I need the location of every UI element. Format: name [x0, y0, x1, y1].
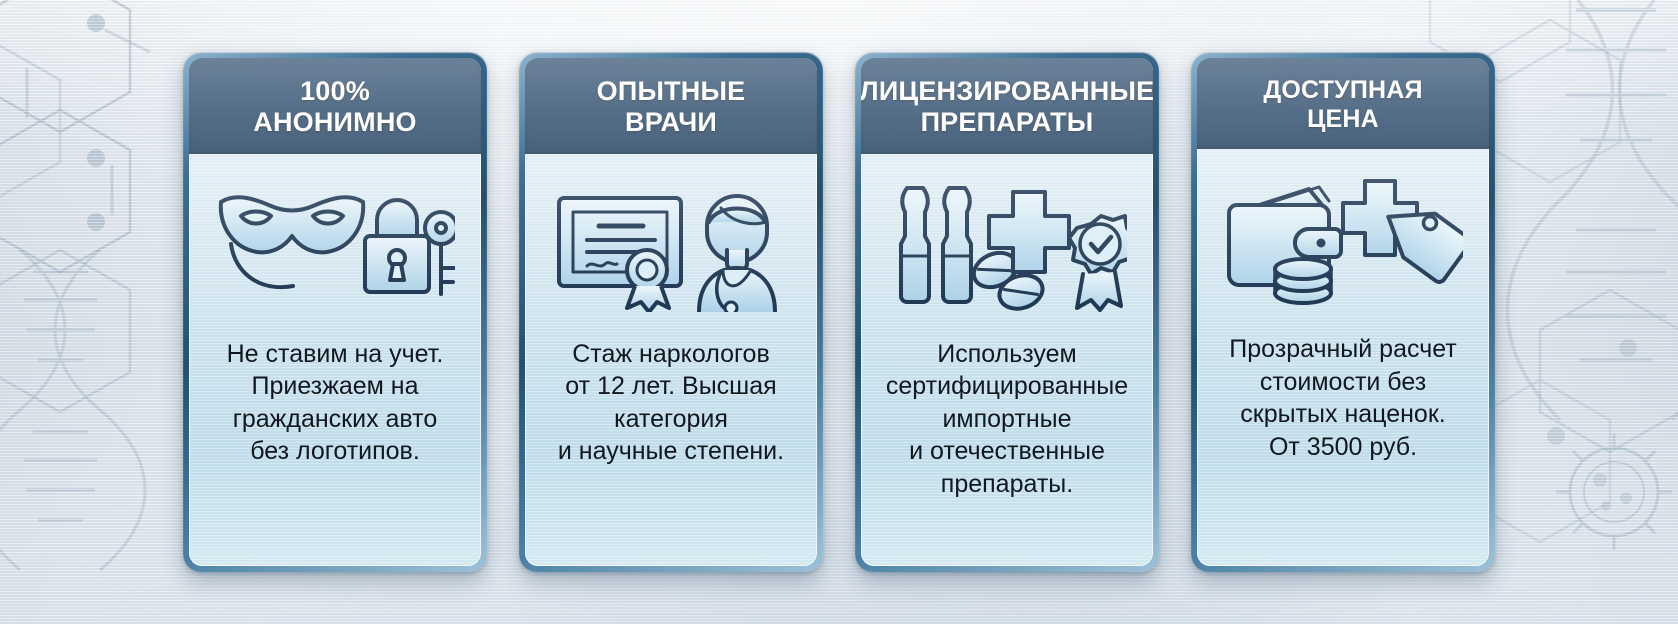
card-header-experienced-doctors: ОПЫТНЫЕ ВРАЧИ — [525, 58, 817, 154]
card-description: Используем сертифицированные импортные и… — [886, 338, 1128, 501]
award-ribbon-icon — [627, 250, 669, 312]
card-body-affordable-price: Прозрачный расчет стоимости без скрытых … — [1197, 329, 1489, 566]
card-icon-group-doctors — [525, 154, 817, 334]
quality-badge-icon — [1069, 216, 1127, 310]
card-header-licensed-drugs: ЛИЦЕНЗИРОВАННЫЕ ПРЕПАРАТЫ — [861, 58, 1153, 154]
feature-card-affordable-price[interactable]: ДОСТУПНАЯ ЦЕНА — [1191, 52, 1495, 572]
card-body-anonymity: Не ставим на учет. Приезжаем на гражданс… — [189, 334, 481, 566]
card-header-affordable-price: ДОСТУПНАЯ ЦЕНА — [1197, 58, 1489, 149]
card-description: Прозрачный расчет стоимости без скрытых … — [1229, 333, 1457, 463]
card-icon-group-anonymity — [189, 154, 481, 334]
card-body-experienced-doctors: Стаж наркологов от 12 лет. Высшая катего… — [525, 334, 817, 566]
ampoule-icon — [901, 188, 971, 302]
card-description: Не ставим на учет. Приезжаем на гражданс… — [227, 338, 444, 468]
promo-banner: 100% АНОНИМНО — [0, 0, 1678, 624]
padlock-icon — [365, 200, 429, 292]
card-description: Стаж наркологов от 12 лет. Высшая катего… — [558, 338, 784, 468]
feature-card-experienced-doctors[interactable]: ОПЫТНЫЕ ВРАЧИ — [519, 52, 823, 572]
card-body-licensed-drugs: Используем сертифицированные импортные и… — [861, 334, 1153, 566]
card-title: ДОСТУПНАЯ ЦЕНА — [1263, 76, 1422, 133]
coins-icon — [1275, 259, 1331, 303]
card-title: 100% АНОНИМНО — [253, 76, 417, 138]
card-icon-group-drugs — [861, 154, 1153, 334]
carnival-mask-icon — [221, 197, 363, 287]
feature-card-licensed-drugs[interactable]: ЛИЦЕНЗИРОВАННЫЕ ПРЕПАРАТЫ — [855, 52, 1159, 572]
card-title: ОПЫТНЫЕ ВРАЧИ — [597, 76, 746, 138]
feature-cards-row: 100% АНОНИМНО — [0, 0, 1678, 624]
card-header-anonymity: 100% АНОНИМНО — [189, 58, 481, 154]
card-icon-group-price — [1197, 149, 1489, 329]
card-title: ЛИЦЕНЗИРОВАННЫЕ ПРЕПАРАТЫ — [861, 76, 1153, 138]
doctor-icon — [699, 196, 775, 312]
feature-card-anonymity[interactable]: 100% АНОНИМНО — [183, 52, 487, 572]
